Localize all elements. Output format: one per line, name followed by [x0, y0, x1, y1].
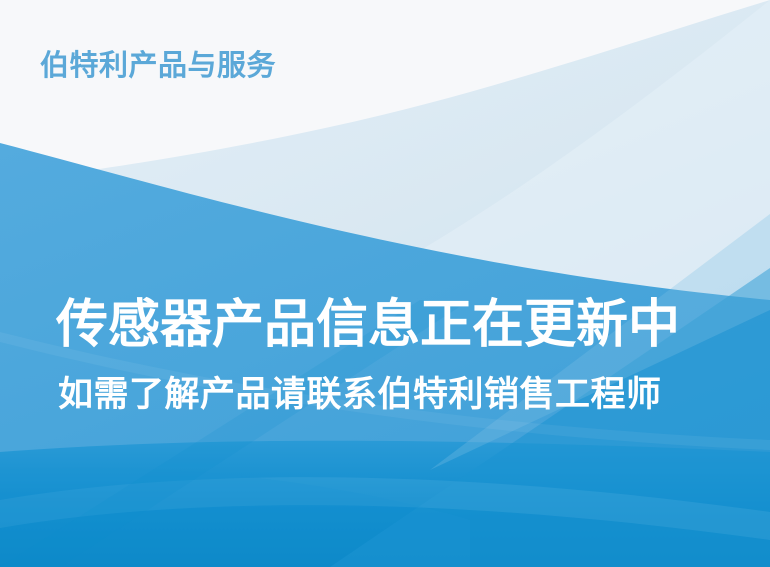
headline-primary: 传感器产品信息正在更新中 [0, 292, 770, 358]
page-title: 伯特利产品与服务 [40, 45, 276, 85]
headline-block: 传感器产品信息正在更新中 如需了解产品请联系伯特利销售工程师 [0, 292, 770, 418]
banner-background-graphic [0, 0, 770, 567]
headline-secondary: 如需了解产品请联系伯特利销售工程师 [0, 372, 770, 418]
product-banner: 伯特利产品与服务 传感器产品信息正在更新中 如需了解产品请联系伯特利销售工程师 [0, 0, 770, 567]
